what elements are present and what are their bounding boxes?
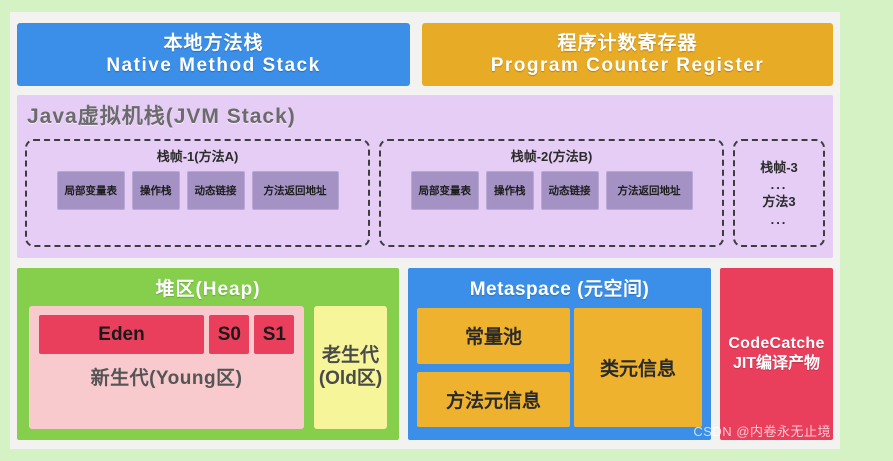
- frame-part-dynamic-link: 动态链接: [541, 171, 599, 210]
- frame-part-dynamic-link: 动态链接: [187, 171, 245, 210]
- old-generation-box: 老生代 (Old区): [314, 306, 387, 429]
- jvm-stack-title: Java虚拟机栈(JVM Stack): [27, 100, 296, 130]
- survivor0-region: S0: [209, 315, 249, 354]
- stack-frame-2-parts: 局部变量表 操作栈 动态链接 方法返回地址: [381, 171, 722, 210]
- old-generation-label-line1: 老生代: [322, 345, 379, 368]
- metaspace-inner: 常量池 方法元信息 类元信息: [417, 308, 702, 427]
- program-counter-register-label-en: Program Counter Register: [491, 55, 765, 76]
- eden-region: Eden: [39, 315, 205, 354]
- heap-inner: Eden S0 S1 新生代(Young区) 老生代 (Old区): [29, 306, 387, 429]
- frame-part-local-variable-table: 局部变量表: [411, 171, 480, 210]
- frame-part-local-variable-table: 局部变量表: [57, 171, 126, 210]
- stack-frame-3-title: 栈帧-3: [760, 159, 798, 178]
- survivor1-region: S1: [254, 315, 294, 354]
- codecache-label-en: CodeCatche: [728, 334, 824, 354]
- stack-frame-3-dots-bottom: ...: [771, 212, 788, 228]
- program-counter-register-box: 程序计数寄存器 Program Counter Register: [422, 23, 833, 86]
- old-generation-label-line2: (Old区): [319, 368, 382, 391]
- top-row: 本地方法栈 Native Method Stack 程序计数寄存器 Progra…: [17, 23, 833, 86]
- stack-frame-3-dots-top: ...: [771, 177, 788, 193]
- metaspace-left-column: 常量池 方法元信息: [417, 308, 570, 427]
- stack-frames-row: 栈帧-1(方法A) 局部变量表 操作栈 动态链接 方法返回地址 栈帧-2(方法B…: [25, 139, 825, 247]
- heap-title: 堆区(Heap): [17, 268, 399, 301]
- heap-box: 堆区(Heap) Eden S0 S1 新生代(Young区) 老生代 (Old…: [17, 268, 399, 440]
- frame-part-operand-stack: 操作栈: [486, 171, 534, 210]
- frame-part-operand-stack: 操作栈: [132, 171, 180, 210]
- native-method-stack-label-en: Native Method Stack: [106, 55, 320, 76]
- codecache-box: CodeCatche JIT编译产物: [720, 268, 833, 440]
- codecache-label-cn: JIT编译产物: [733, 354, 820, 374]
- frame-part-return-address: 方法返回地址: [606, 171, 693, 210]
- diagram-canvas: 本地方法栈 Native Method Stack 程序计数寄存器 Progra…: [10, 12, 840, 449]
- stack-frame-1-title: 栈帧-1(方法A): [157, 146, 239, 165]
- native-method-stack-label-cn: 本地方法栈: [163, 33, 263, 54]
- method-metadata-box: 方法元信息: [417, 372, 570, 428]
- stack-frame-1: 栈帧-1(方法A) 局部变量表 操作栈 动态链接 方法返回地址: [25, 139, 370, 247]
- stack-frame-3: 栈帧-3 ... 方法3 ...: [733, 139, 825, 247]
- metaspace-title: Metaspace (元空间): [408, 268, 711, 301]
- stack-frame-3-method: 方法3: [762, 193, 795, 212]
- young-generation-label: 新生代(Young区): [91, 363, 243, 390]
- metaspace-box: Metaspace (元空间) 常量池 方法元信息 类元信息: [408, 268, 711, 440]
- native-method-stack-box: 本地方法栈 Native Method Stack: [17, 23, 410, 86]
- stack-frame-2: 栈帧-2(方法B) 局部变量表 操作栈 动态链接 方法返回地址: [379, 139, 724, 247]
- young-generation-box: Eden S0 S1 新生代(Young区): [29, 306, 304, 429]
- young-generation-regions: Eden S0 S1: [39, 315, 295, 354]
- stack-frame-1-parts: 局部变量表 操作栈 动态链接 方法返回地址: [27, 171, 368, 210]
- frame-part-return-address: 方法返回地址: [252, 171, 339, 210]
- constant-pool-box: 常量池: [417, 308, 570, 364]
- jvm-stack-panel: Java虚拟机栈(JVM Stack) 栈帧-1(方法A) 局部变量表 操作栈 …: [17, 95, 833, 258]
- class-metadata-box: 类元信息: [574, 308, 702, 427]
- program-counter-register-label-cn: 程序计数寄存器: [557, 33, 697, 54]
- stack-frame-2-title: 栈帧-2(方法B): [511, 146, 593, 165]
- bottom-row: 堆区(Heap) Eden S0 S1 新生代(Young区) 老生代 (Old…: [17, 268, 833, 440]
